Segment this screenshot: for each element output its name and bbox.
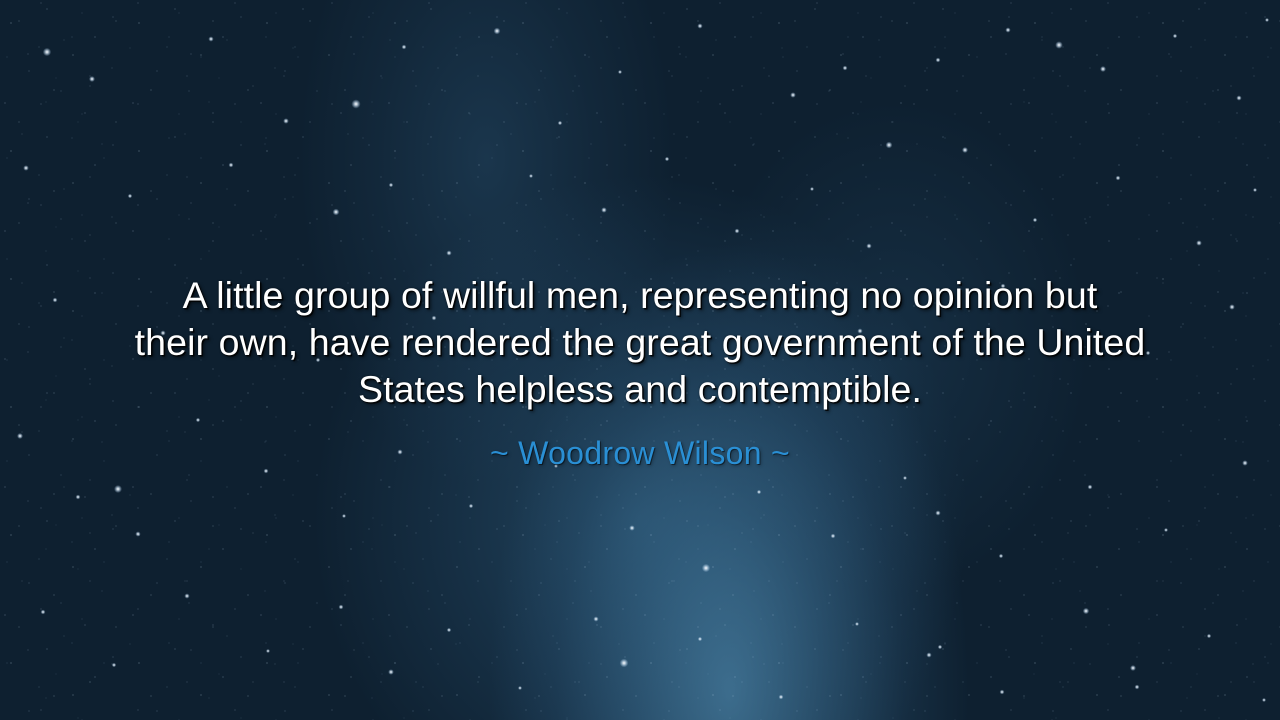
quote-line-3: States helpless and contemptible. (85, 366, 1195, 413)
quote-attribution: ~ Woodrow Wilson ~ (40, 434, 1240, 472)
quote-line-2: their own, have rendered the great gover… (85, 319, 1195, 366)
quote-slide: A little group of willful men, represent… (0, 0, 1280, 720)
quote-line-1: A little group of willful men, represent… (85, 272, 1195, 319)
quote-block: A little group of willful men, represent… (0, 272, 1280, 472)
